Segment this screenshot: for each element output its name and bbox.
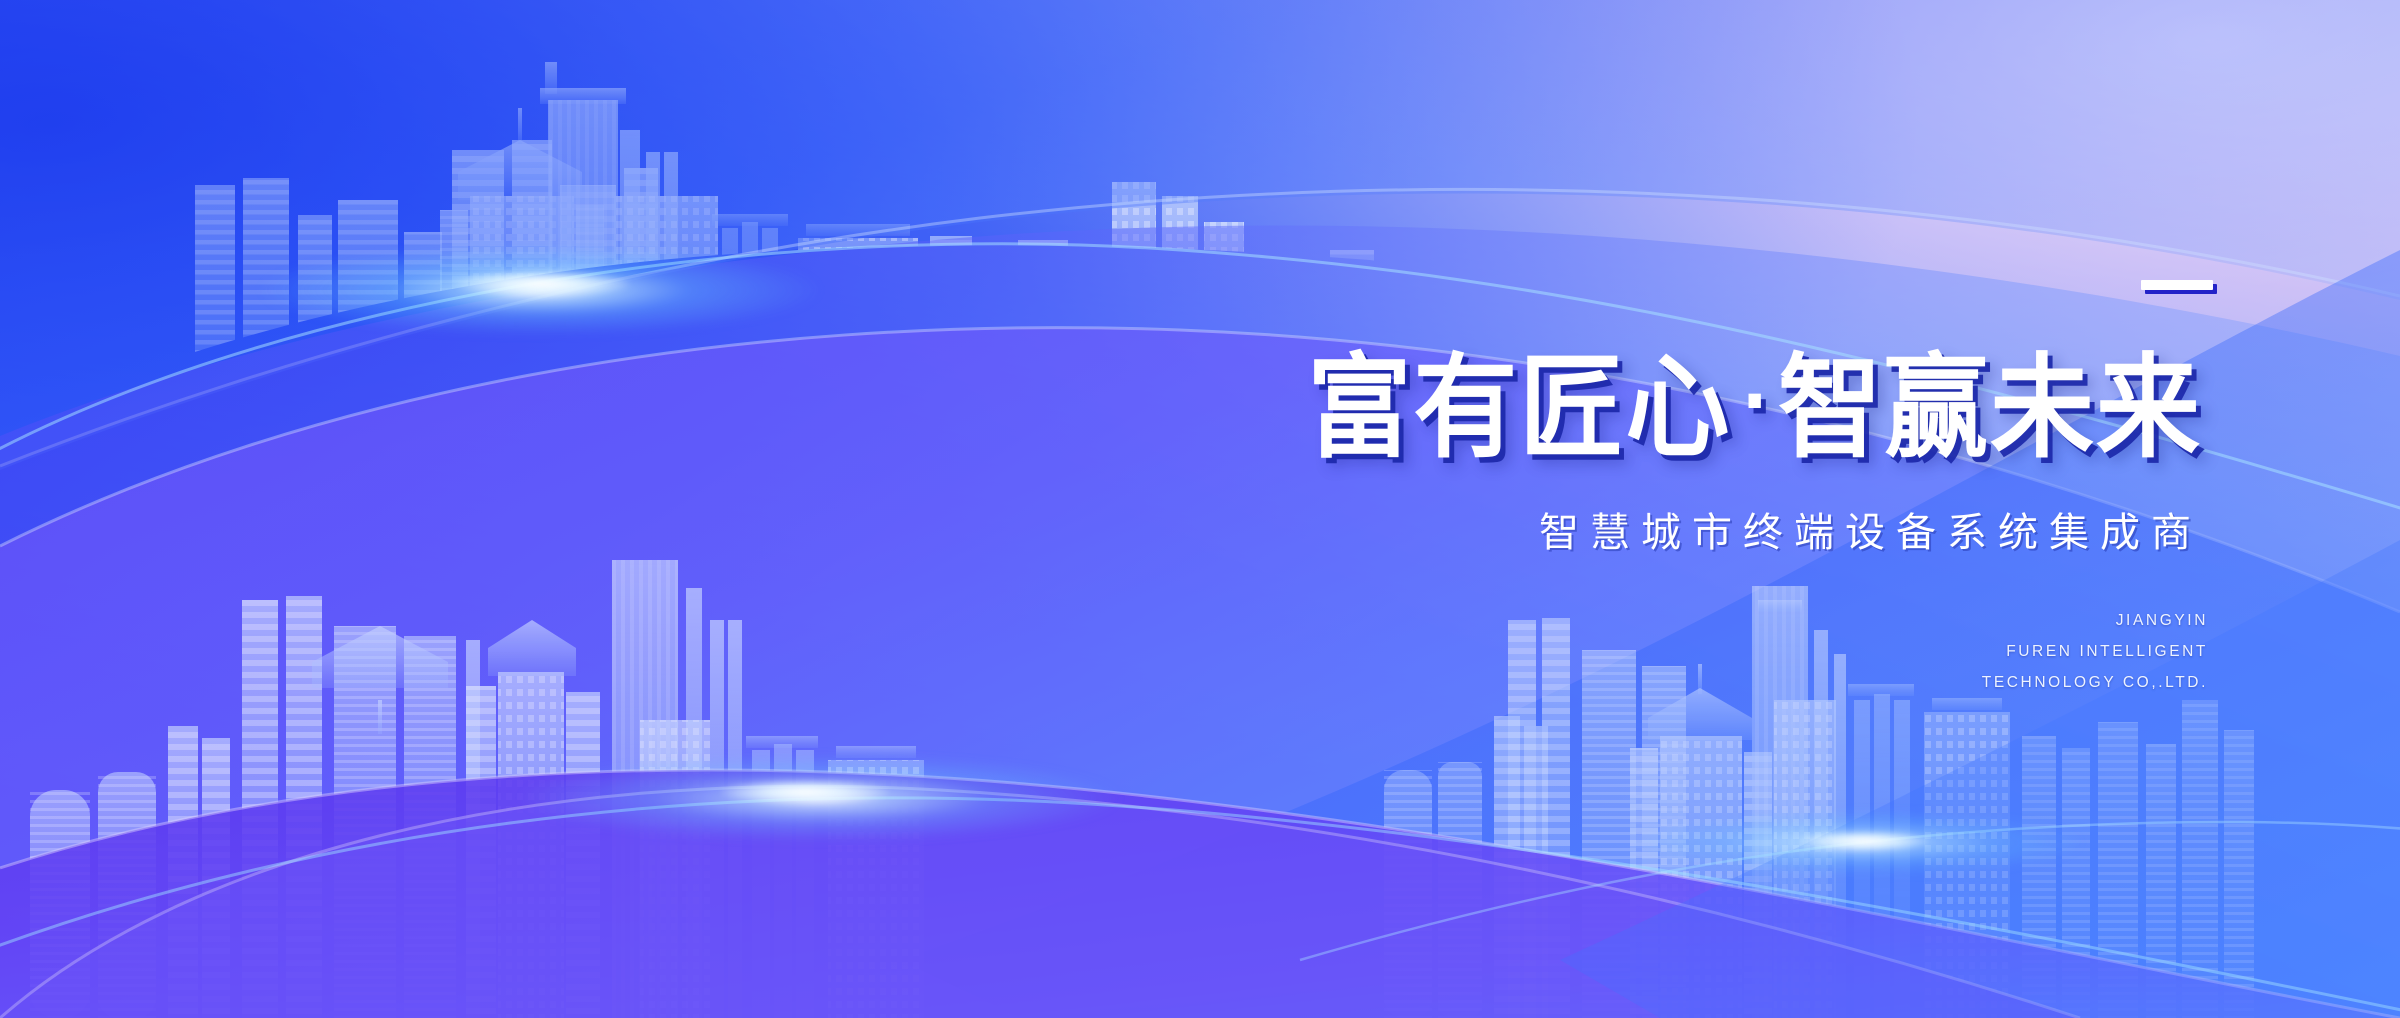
headline-part-left: 富有匠心 <box>1307 342 1731 474</box>
banner-text-block: 富有匠心·智赢未来 智慧城市终端设备系统集成商 JIANGYIN FUREN I… <box>1040 255 2220 775</box>
company-name-block: JIANGYIN FUREN INTELLIGENT TECHNOLOGY CO… <box>1062 605 2208 698</box>
banner-canvas: 富有匠心·智赢未来 智慧城市终端设备系统集成商 JIANGYIN FUREN I… <box>0 0 2400 1018</box>
accent-dash-icon <box>2141 280 2213 290</box>
banner-subheadline: 智慧城市终端设备系统集成商 <box>1062 500 2202 558</box>
company-line-name: FUREN INTELLIGENT <box>1062 636 2208 667</box>
company-line-city: JIANGYIN <box>1062 605 2208 636</box>
headline-separator-dot: · <box>1731 361 1778 443</box>
banner-headline: 富有匠心·智赢未来 <box>1062 347 2202 468</box>
headline-part-right: 智赢未来 <box>1778 342 2202 474</box>
company-line-suffix: TECHNOLOGY CO,.LTD. <box>1062 667 2208 698</box>
